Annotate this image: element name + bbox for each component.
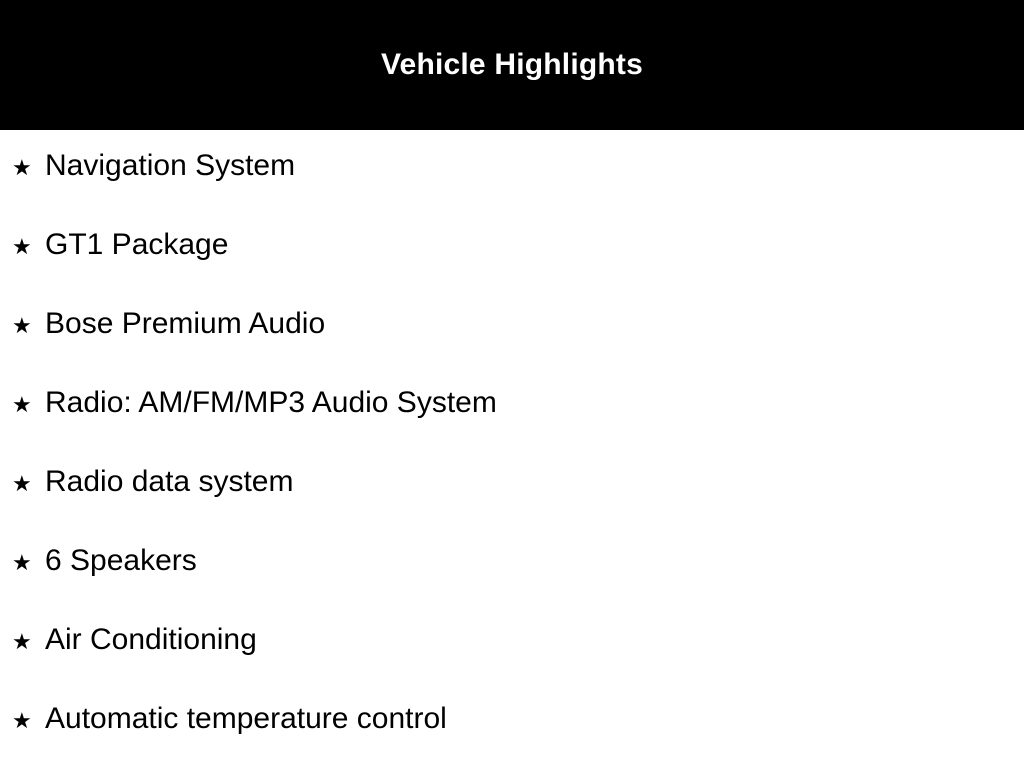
star-icon: ★ bbox=[12, 237, 45, 259]
vehicle-highlights-list: ★ Navigation System ★ GT1 Package ★ Bose… bbox=[0, 130, 1024, 783]
list-item: ★ Radio data system bbox=[0, 467, 1024, 546]
highlight-label: Radio data system bbox=[45, 467, 293, 497]
vehicle-highlights-page: Vehicle Highlights ★ Navigation System ★… bbox=[0, 0, 1024, 768]
highlight-label: Radio: AM/FM/MP3 Audio System bbox=[45, 388, 497, 418]
highlight-label: Navigation System bbox=[45, 151, 295, 181]
highlight-label: Automatic temperature control bbox=[45, 704, 447, 734]
highlight-label: GT1 Package bbox=[45, 230, 228, 260]
list-item: ★ Radio: AM/FM/MP3 Audio System bbox=[0, 388, 1024, 467]
header-bar: Vehicle Highlights bbox=[0, 0, 1024, 130]
star-icon: ★ bbox=[12, 158, 45, 180]
list-item: ★ Bose Premium Audio bbox=[0, 309, 1024, 388]
list-item: ★ GT1 Package bbox=[0, 230, 1024, 309]
star-icon: ★ bbox=[12, 316, 45, 338]
list-item: ★ Air Conditioning bbox=[0, 625, 1024, 704]
highlight-label: Air Conditioning bbox=[45, 625, 257, 655]
star-icon: ★ bbox=[12, 395, 45, 417]
list-item: ★ 6 Speakers bbox=[0, 546, 1024, 625]
page-title: Vehicle Highlights bbox=[381, 50, 643, 80]
highlight-label: Bose Premium Audio bbox=[45, 309, 325, 339]
star-icon: ★ bbox=[12, 553, 45, 575]
star-icon: ★ bbox=[12, 474, 45, 496]
list-item: ★ Automatic temperature control bbox=[0, 704, 1024, 783]
star-icon: ★ bbox=[12, 632, 45, 654]
list-item: ★ Navigation System bbox=[0, 130, 1024, 230]
star-icon: ★ bbox=[12, 711, 45, 733]
highlight-label: 6 Speakers bbox=[45, 546, 197, 576]
